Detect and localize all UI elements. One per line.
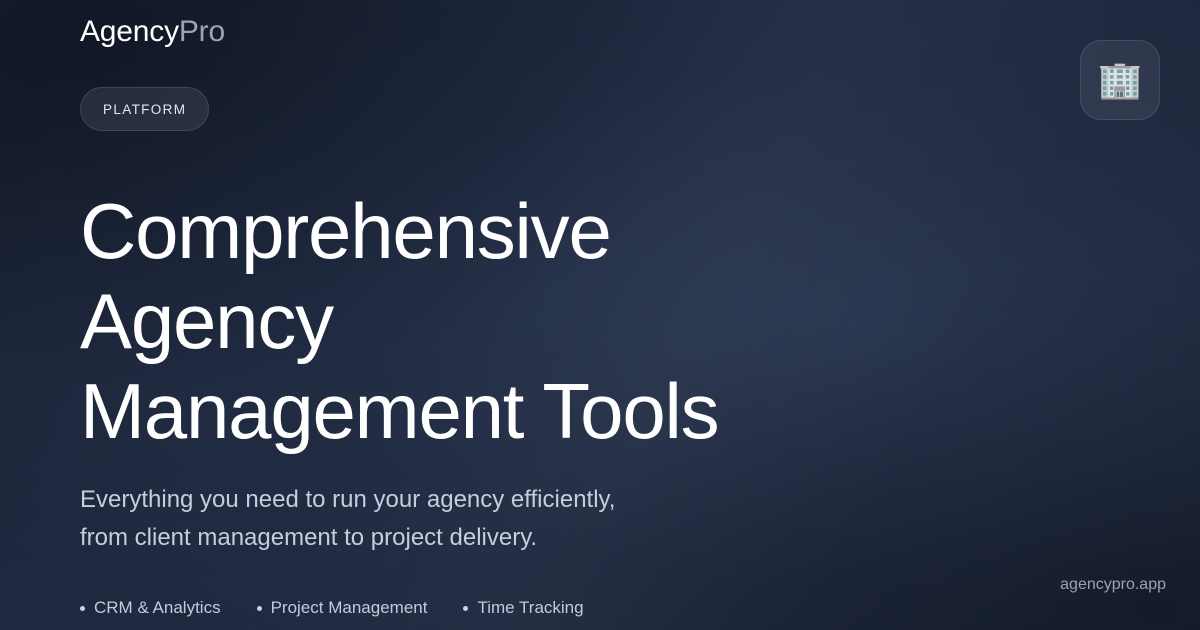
brand-name-secondary: Pro: [179, 15, 225, 48]
headline-line: Management Tools: [80, 366, 800, 456]
brand-logo: AgencyPro: [80, 14, 225, 50]
page-title: Comprehensive Agency Management Tools: [80, 186, 800, 456]
footer-url: agencypro.app: [1060, 576, 1166, 594]
bullet-dot-icon: [463, 606, 468, 611]
headline-line: Comprehensive: [80, 186, 800, 276]
list-item: Time Tracking: [463, 598, 583, 618]
subtitle-line: Everything you need to run your agency e…: [80, 481, 760, 519]
og-card: AgencyPro PLATFORM 🏢 Comprehensive Agenc…: [0, 0, 1200, 630]
office-building-icon: 🏢: [1098, 62, 1143, 98]
app-icon-tile: 🏢: [1080, 40, 1160, 120]
feature-list: CRM & Analytics Project Management Time …: [80, 598, 584, 618]
platform-badge-label: PLATFORM: [103, 102, 186, 117]
brand-name-primary: Agency: [80, 15, 179, 48]
bullet-dot-icon: [80, 606, 85, 611]
subtitle-line: from client management to project delive…: [80, 519, 760, 557]
bullet-dot-icon: [257, 606, 262, 611]
feature-label: CRM & Analytics: [94, 598, 221, 618]
headline-line: Agency: [80, 276, 800, 366]
page-subtitle: Everything you need to run your agency e…: [80, 481, 760, 557]
list-item: CRM & Analytics: [80, 598, 221, 618]
platform-badge: PLATFORM: [80, 87, 209, 131]
list-item: Project Management: [257, 598, 428, 618]
feature-label: Project Management: [271, 598, 428, 618]
feature-label: Time Tracking: [477, 598, 583, 618]
